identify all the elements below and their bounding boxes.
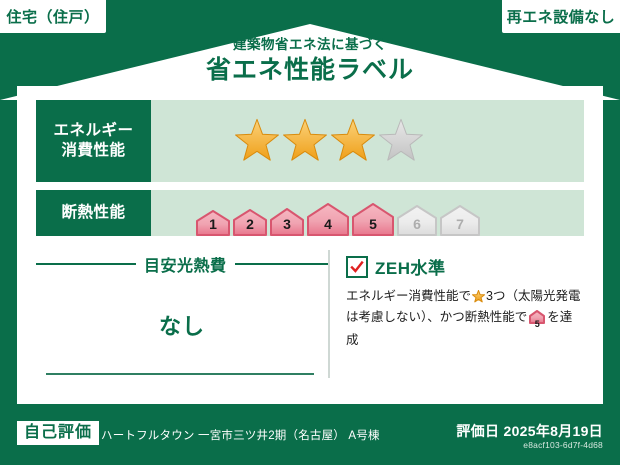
insulation-level-number: 3 bbox=[270, 216, 304, 232]
zeh-title: ZEH水準 bbox=[375, 254, 446, 279]
cost-rule-left bbox=[36, 263, 136, 265]
label-card: エネルギー 消費性能 断熱性能 1234567 目安光熱費 bbox=[17, 86, 603, 404]
insulation-level-badge-4: 4 bbox=[307, 203, 349, 236]
insulation-performance-value: 1234567 bbox=[151, 190, 584, 236]
star-rating bbox=[234, 118, 424, 164]
property-name: ハートフルタウン 一宮市三ツ井2期（名古屋） A号棟 bbox=[101, 427, 380, 443]
insulation-level-badge-1: 1 bbox=[196, 210, 230, 236]
insulation-level-number: 7 bbox=[440, 216, 480, 232]
insulation-level-badge-7: 7 bbox=[440, 205, 480, 236]
insulation-performance-label: 断熱性能 bbox=[36, 190, 151, 236]
insulation-level-badge-6: 6 bbox=[397, 205, 437, 236]
renewable-equipment-tag: 再エネ設備なし bbox=[502, 0, 620, 33]
energy-label-line2: 消費性能 bbox=[61, 141, 125, 161]
zeh-desc-part2: は考慮しない）、かつ断熱性能で bbox=[346, 310, 527, 324]
label-header: 建築物省エネ法に基づく 省エネ性能ラベル bbox=[0, 38, 620, 86]
zeh-desc-part1: エネルギー消費性能で bbox=[346, 289, 471, 303]
energy-performance-row: エネルギー 消費性能 bbox=[36, 100, 584, 182]
self-evaluation-badge: 自己評価 bbox=[17, 421, 99, 445]
energy-performance-label: エネルギー 消費性能 bbox=[36, 100, 151, 182]
utility-cost-value: なし bbox=[36, 309, 328, 341]
insulation-badge-icon: 5 bbox=[529, 310, 545, 331]
insulation-level-badge-2: 2 bbox=[233, 209, 267, 236]
label-footer: 自己評価 ハートフルタウン 一宮市三ツ井2期（名古屋） A号棟 評価日 2025… bbox=[0, 407, 620, 465]
insulation-level-number: 1 bbox=[196, 216, 230, 232]
evaluation-date: 評価日 2025年8月19日 bbox=[456, 421, 603, 441]
evaluation-date-value: 2025年8月19日 bbox=[503, 423, 603, 439]
zeh-pane: ZEH水準 エネルギー消費性能で3つ（太陽光発電は考慮しない）、かつ断熱性能で5… bbox=[330, 246, 584, 388]
label-subtitle: 建築物省エネ法に基づく bbox=[0, 38, 620, 53]
evaluation-id: e8acf103-6d7f-4d68 bbox=[523, 440, 603, 450]
cost-rule-right bbox=[235, 263, 328, 265]
cost-bottom-rule bbox=[46, 373, 314, 375]
utility-cost-pane: 目安光熱費 なし bbox=[36, 246, 328, 388]
insulation-level-number: 6 bbox=[397, 216, 437, 232]
energy-performance-value bbox=[151, 100, 584, 182]
zeh-desc-stars: 3つ（太陽光発電 bbox=[486, 289, 580, 303]
check-icon bbox=[346, 256, 368, 278]
star-icon bbox=[472, 290, 485, 303]
checkmark-glyph bbox=[350, 260, 364, 274]
utility-cost-header: 目安光熱費 bbox=[36, 252, 328, 276]
label-title: 省エネ性能ラベル bbox=[0, 55, 620, 86]
utility-cost-title: 目安光熱費 bbox=[136, 252, 235, 276]
star-empty-icon bbox=[378, 118, 424, 164]
insulation-level-badge-5: 5 bbox=[352, 203, 394, 236]
zeh-description: エネルギー消費性能で3つ（太陽光発電は考慮しない）、かつ断熱性能で5を達成 bbox=[346, 286, 584, 351]
label-lower-section: 目安光熱費 なし ZEH水準 エネルギー消費性能で3つ（太陽 bbox=[36, 246, 584, 388]
zeh-header: ZEH水準 bbox=[346, 254, 584, 279]
star-filled-icon bbox=[330, 118, 376, 164]
insulation-label-line1: 断熱性能 bbox=[61, 203, 125, 223]
building-type-tag: 住宅（住戸） bbox=[0, 0, 106, 33]
insulation-level-number: 4 bbox=[307, 216, 349, 232]
star-filled-icon bbox=[282, 118, 328, 164]
insulation-level-badge-3: 3 bbox=[270, 208, 304, 236]
insulation-performance-row: 断熱性能 1234567 bbox=[36, 190, 584, 236]
insulation-level-badges: 1234567 bbox=[196, 190, 483, 236]
insulation-level-number: 5 bbox=[352, 216, 394, 232]
energy-performance-label: 住宅（住戸） 再エネ設備なし 建築物省エネ法に基づく 省エネ性能ラベル エネルギ… bbox=[0, 0, 620, 465]
star-filled-icon bbox=[234, 118, 280, 164]
insulation-level-number: 2 bbox=[233, 216, 267, 232]
energy-label-line1: エネルギー bbox=[53, 121, 133, 141]
inline-badge-number: 5 bbox=[529, 320, 545, 329]
evaluation-date-label: 評価日 bbox=[456, 423, 499, 439]
